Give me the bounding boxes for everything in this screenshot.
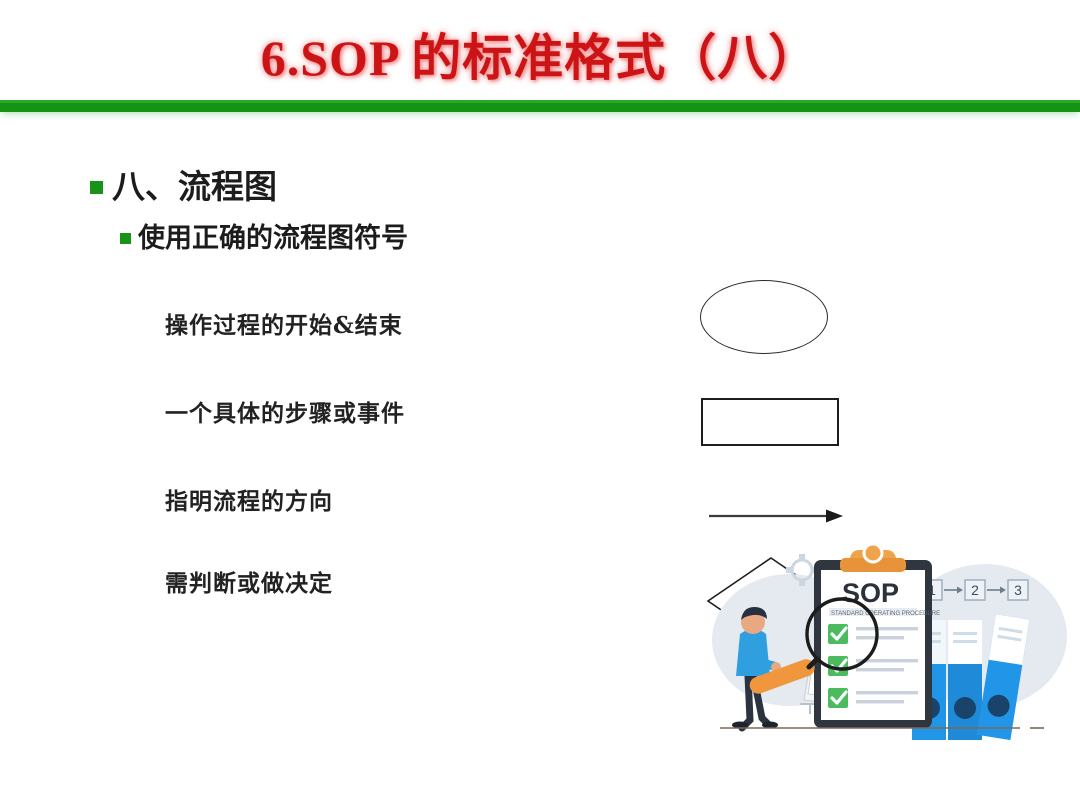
symbol-label-decision: 需判断或做决定 [165,564,333,598]
svg-text:3: 3 [1014,582,1022,598]
slide-canvas: 6.SOP 的标准格式（八） 八、流程图 使用正确的流程图符号 操作过程的开始&… [0,0,1080,810]
sop-illustration: 1 2 3 [690,528,1070,740]
flowchart-arrow-shape [708,506,844,526]
square-bullet-icon [90,181,103,194]
symbol-label-start-end: 操作过程的开始&结束 [165,306,403,340]
title-divider [0,100,1080,112]
outline-subheading: 使用正确的流程图符号 [120,216,408,255]
outline-heading-label: 八、流程图 [112,167,277,206]
square-bullet-icon [120,233,131,244]
symbol-label-process: 一个具体的步骤或事件 [165,394,405,428]
clipboard-title: SOP [842,578,899,608]
outline-subheading-label: 使用正确的流程图符号 [138,223,408,254]
flowchart-ellipse-shape [700,280,828,354]
svg-text:2: 2 [971,582,979,598]
outline-heading: 八、流程图 [90,160,277,208]
clipboard-subtitle: STANDARD OPERATING PROCEDURE [831,611,940,617]
step-sequence: 1 2 3 [922,580,1028,600]
flowchart-rectangle-shape [701,398,839,446]
page-title: 6.SOP 的标准格式（八） [0,18,1080,90]
symbol-label-direction: 指明流程的方向 [165,482,333,516]
